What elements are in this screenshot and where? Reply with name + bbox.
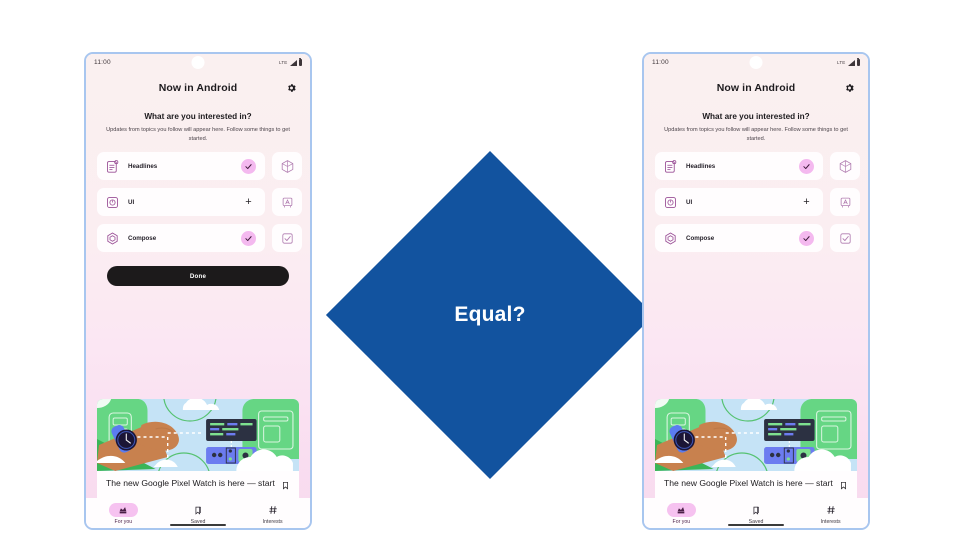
topic-label: Compose [686, 235, 799, 242]
nav-item-for-you[interactable]: For you [652, 503, 710, 525]
page-title: Now in Android [159, 82, 238, 94]
bottom-navigation: For you Saved Interests [86, 498, 310, 528]
done-button-wrapper: Done [86, 260, 310, 286]
status-bar-indicators: LTE [837, 59, 860, 66]
nav-item-for-you[interactable]: For you [94, 503, 152, 525]
easel-accessibility-icon [280, 195, 295, 210]
topic-card-ui[interactable]: UI + [97, 188, 265, 216]
topic-row: Compose [97, 224, 310, 252]
onboarding-header: What are you interested in? Updates from… [86, 104, 310, 143]
status-bar: 11:00 LTE [86, 54, 310, 71]
feed-card-body: The new Google Pixel Watch is here — sta… [97, 471, 299, 498]
topic-card-peek-cube[interactable] [272, 152, 302, 180]
cube-3d-icon [280, 159, 295, 174]
topic-card-peek-easel[interactable] [830, 188, 860, 216]
nav-label: Interests [821, 519, 841, 525]
status-bar-clock: 11:00 [652, 59, 669, 66]
network-label: LTE [837, 60, 846, 65]
gear-icon[interactable] [844, 82, 855, 93]
feed-card-title: The new Google Pixel Watch is here — sta… [664, 478, 839, 489]
bookmark-icon[interactable] [839, 480, 848, 491]
document-headlines-icon [663, 159, 678, 174]
status-bar-indicators: LTE [279, 59, 302, 66]
flex-spacer [86, 286, 310, 399]
front-camera-punchhole-icon [192, 56, 205, 69]
bottom-navigation: For you Saved Interests [644, 498, 868, 528]
topic-card-peek-easel[interactable] [272, 188, 302, 216]
bookmark-saved-icon [741, 503, 770, 517]
home-gesture-indicator[interactable] [728, 524, 784, 526]
topic-card-compose[interactable]: Compose [655, 224, 823, 252]
topic-card-peek-checkbox[interactable] [830, 224, 860, 252]
for-you-icon [109, 503, 138, 517]
topic-row: Headlines [655, 152, 868, 180]
nav-label: Interests [263, 519, 283, 525]
nav-item-interests[interactable]: Interests [244, 503, 302, 525]
equal-comparison-diamond: Equal? [374, 199, 606, 431]
topic-card-headlines[interactable]: Headlines [97, 152, 265, 180]
topic-label: Headlines [128, 163, 241, 170]
front-camera-punchhole-icon [750, 56, 763, 69]
nav-label: For you [115, 519, 133, 525]
topic-label: Compose [128, 235, 241, 242]
topic-card-ui[interactable]: UI + [655, 188, 823, 216]
check-icon[interactable] [241, 159, 256, 174]
done-button[interactable]: Done [107, 266, 289, 286]
topic-card-peek-cube[interactable] [830, 152, 860, 180]
comparison-stage: 11:00 LTE Now in Android What are you in… [0, 0, 960, 540]
onboarding-title: What are you interested in? [98, 112, 298, 121]
topic-row: UI + [97, 188, 310, 216]
topic-row: UI + [655, 188, 868, 216]
checkbox-icon [280, 231, 295, 246]
phone-mockup-right: 11:00 LTE Now in Android What are you in… [642, 52, 870, 530]
onboarding-subtitle: Updates from topics you follow will appe… [98, 126, 298, 143]
feed-card[interactable]: The new Google Pixel Watch is here — sta… [655, 399, 857, 498]
phone-screen-right: 11:00 LTE Now in Android What are you in… [644, 54, 868, 528]
nav-item-saved[interactable]: Saved [169, 503, 227, 525]
onboarding-subtitle: Updates from topics you follow will appe… [656, 126, 856, 143]
cube-3d-icon [838, 159, 853, 174]
topic-list: Headlines [86, 152, 310, 260]
battery-icon [857, 59, 861, 66]
topic-card-headlines[interactable]: Headlines [655, 152, 823, 180]
phone-screen-left: 11:00 LTE Now in Android What are you in… [86, 54, 310, 528]
topic-label: UI [128, 199, 241, 206]
check-icon[interactable] [799, 159, 814, 174]
bookmark-saved-icon [183, 503, 212, 517]
nav-item-saved[interactable]: Saved [727, 503, 785, 525]
onboarding-title: What are you interested in? [656, 112, 856, 121]
check-icon[interactable] [799, 231, 814, 246]
gear-icon[interactable] [286, 82, 297, 93]
app-bar: Now in Android [644, 71, 868, 104]
network-label: LTE [279, 60, 288, 65]
hash-interests-icon [816, 503, 845, 517]
status-bar-clock: 11:00 [94, 59, 111, 66]
hand-wearing-smartwatch-illustration [97, 399, 299, 471]
check-icon[interactable] [241, 231, 256, 246]
signal-bars-icon [290, 60, 297, 66]
easel-accessibility-icon [838, 195, 853, 210]
feed-card[interactable]: The new Google Pixel Watch is here — sta… [97, 399, 299, 498]
document-headlines-icon [105, 159, 120, 174]
onboarding-header: What are you interested in? Updates from… [644, 104, 868, 143]
nav-item-interests[interactable]: Interests [802, 503, 860, 525]
app-bar: Now in Android [86, 71, 310, 104]
checkbox-icon [838, 231, 853, 246]
for-you-icon [667, 503, 696, 517]
battery-icon [299, 59, 303, 66]
plus-icon[interactable]: + [799, 195, 814, 210]
flex-spacer [644, 260, 868, 399]
bookmark-icon[interactable] [281, 480, 290, 491]
topic-card-peek-checkbox[interactable] [272, 224, 302, 252]
topic-row: Compose [655, 224, 868, 252]
plus-icon[interactable]: + [241, 195, 256, 210]
ui-circle-icon [663, 195, 678, 210]
feed-card-title: The new Google Pixel Watch is here — sta… [106, 478, 281, 489]
feed-card-body: The new Google Pixel Watch is here — sta… [655, 471, 857, 498]
hash-interests-icon [258, 503, 287, 517]
topic-card-compose[interactable]: Compose [97, 224, 265, 252]
page-title: Now in Android [717, 82, 796, 94]
hexagon-compose-icon [105, 231, 120, 246]
hexagon-compose-icon [663, 231, 678, 246]
topic-label: Headlines [686, 163, 799, 170]
hand-wearing-smartwatch-illustration [655, 399, 857, 471]
home-gesture-indicator[interactable] [170, 524, 226, 526]
diamond-label: Equal? [374, 199, 606, 431]
topic-list: Headlines [644, 152, 868, 260]
status-bar: 11:00 LTE [644, 54, 868, 71]
topic-label: UI [686, 199, 799, 206]
signal-bars-icon [848, 60, 855, 66]
ui-circle-icon [105, 195, 120, 210]
nav-label: For you [673, 519, 691, 525]
phone-mockup-left: 11:00 LTE Now in Android What are you in… [84, 52, 312, 530]
topic-row: Headlines [97, 152, 310, 180]
